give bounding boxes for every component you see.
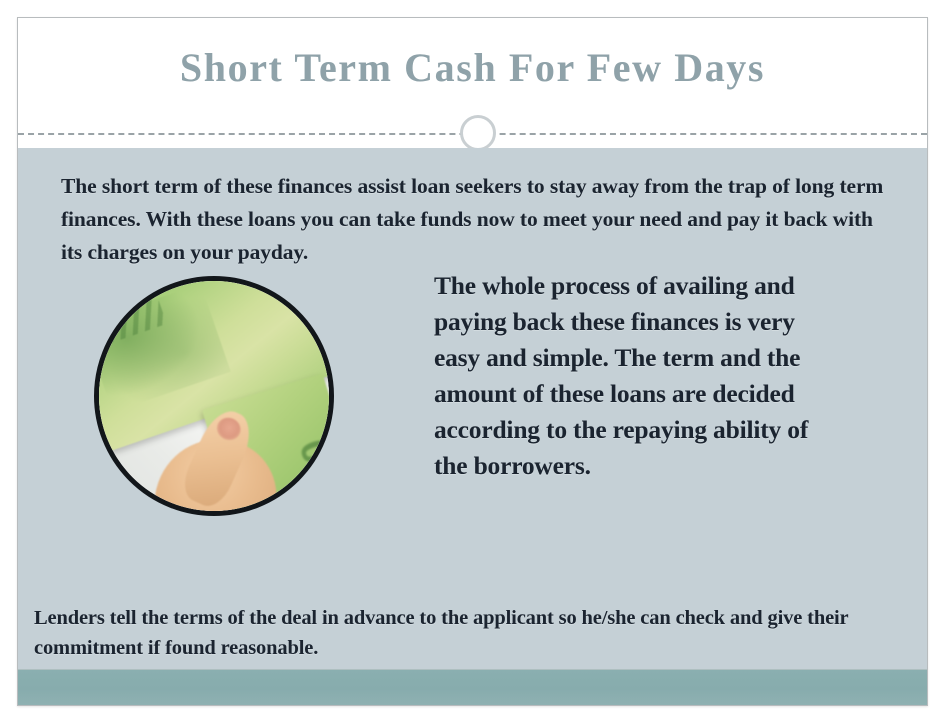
money-photo: 20 — [94, 276, 334, 516]
slide-body: The short term of these finances assist … — [18, 148, 927, 670]
photo-background: 20 — [99, 281, 329, 511]
right-paragraph: The whole process of availing and paying… — [434, 268, 816, 484]
intro-paragraph: The short term of these finances assist … — [61, 170, 891, 269]
page-title: Short Term Cash For Few Days — [18, 44, 927, 91]
circle-ornament-icon — [460, 115, 496, 151]
banknote-denomination-label: 20 — [291, 433, 334, 490]
footer-band — [18, 669, 927, 705]
slide-canvas: Short Term Cash For Few Days The short t… — [17, 17, 928, 706]
bottom-paragraph: Lenders tell the terms of the deal in ad… — [34, 603, 918, 663]
